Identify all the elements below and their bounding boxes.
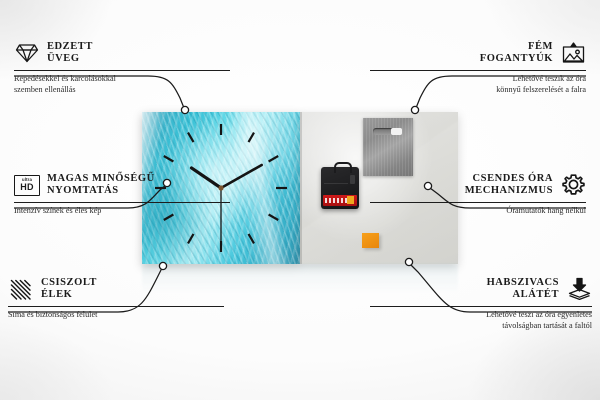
feature-header: ultra HD MAGAS MINŐSÉGŰ NYOMTATÁS: [14, 172, 230, 198]
mechanism-label-text: [325, 198, 347, 203]
gear-icon: [560, 172, 586, 198]
feature-header: CSENDES ÓRA MECHANIZMUS: [370, 172, 586, 198]
picture-hanger-icon: [560, 40, 586, 66]
clock-tick: [188, 234, 194, 244]
foam-pad-icon: [566, 276, 592, 302]
polished-edge-icon: [8, 276, 34, 302]
feature-title: MAGAS MINŐSÉGŰ NYOMTATÁS: [47, 173, 155, 198]
panel-seam: [300, 112, 302, 264]
feature-rule: [14, 70, 230, 71]
diamond-icon: [14, 40, 40, 66]
mechanism-label-badge: [347, 196, 354, 204]
feature-title: CSENDES ÓRA MECHANIZMUS: [465, 173, 553, 198]
feature-description: Repedésekkel és karcolásokkal szemben el…: [14, 74, 230, 95]
infographic-canvas: EDZETT ÜVEG Repedésekkel és karcolásokka…: [0, 0, 600, 400]
feature-silent-mechanism: CSENDES ÓRA MECHANIZMUS Óramutatók hang …: [370, 172, 586, 217]
clock-tick: [269, 156, 279, 162]
metal-hanger-plate: [363, 118, 413, 176]
foam-spacer-pad: [362, 233, 379, 248]
feature-title: HABSZIVACS ALÁTÉT: [487, 277, 559, 302]
feature-metal-hangers: FÉM FOGANTYÚK Lehetővé teszik az óra kön…: [370, 40, 586, 95]
feature-description: Lehetővé teszik az óra könnyű felszerelé…: [370, 74, 586, 95]
feature-description: Lehetővé teszi az óra egyenletes távolsá…: [370, 310, 592, 331]
feature-rule: [370, 202, 586, 203]
clock-tick: [164, 156, 174, 162]
hanger-slot-highlight: [391, 128, 402, 135]
feature-rule: [370, 70, 586, 71]
feature-rule: [14, 202, 230, 203]
feature-title: FÉM FOGANTYÚK: [480, 41, 553, 66]
hanger-grain: [363, 118, 413, 176]
feature-tempered-glass: EDZETT ÜVEG Repedésekkel és karcolásokka…: [14, 40, 230, 95]
clock-mechanism: [321, 167, 359, 209]
feature-header: HABSZIVACS ALÁTÉT: [370, 276, 592, 302]
ultra-hd-badge: ultra HD: [14, 175, 40, 196]
feature-polished-edges: CSISZOLT ÉLEK Sima és biztonságos felüle…: [8, 276, 224, 321]
clock-tick: [249, 234, 255, 244]
clock-tick: [188, 133, 194, 143]
feature-title: EDZETT ÜVEG: [47, 41, 93, 66]
feature-description: Intenzív színek és éles kép: [14, 206, 230, 217]
feature-header: CSISZOLT ÉLEK: [8, 276, 224, 302]
clock-tick: [269, 215, 279, 221]
clock-tick: [249, 133, 255, 143]
feature-header: FÉM FOGANTYÚK: [370, 40, 586, 66]
feature-description: Óramutatók hang nélkül: [370, 206, 586, 217]
ultra-hd-main: HD: [20, 183, 34, 192]
feature-rule: [8, 306, 224, 307]
mechanism-hanging-loop: [334, 162, 352, 173]
feature-rule: [370, 306, 592, 307]
ultra-hd-icon: ultra HD: [14, 172, 40, 198]
mechanism-knob: [350, 175, 355, 184]
mechanism-label: [323, 195, 357, 206]
feature-title: CSISZOLT ÉLEK: [41, 277, 97, 302]
feature-header: EDZETT ÜVEG: [14, 40, 230, 66]
feature-high-quality-print: ultra HD MAGAS MINŐSÉGŰ NYOMTATÁS Intenz…: [14, 172, 230, 217]
feature-description: Sima és biztonságos felület: [8, 310, 224, 321]
feature-foam-pad: HABSZIVACS ALÁTÉT Lehetővé teszi az óra …: [370, 276, 592, 331]
mechanism-body-line: [324, 183, 348, 184]
